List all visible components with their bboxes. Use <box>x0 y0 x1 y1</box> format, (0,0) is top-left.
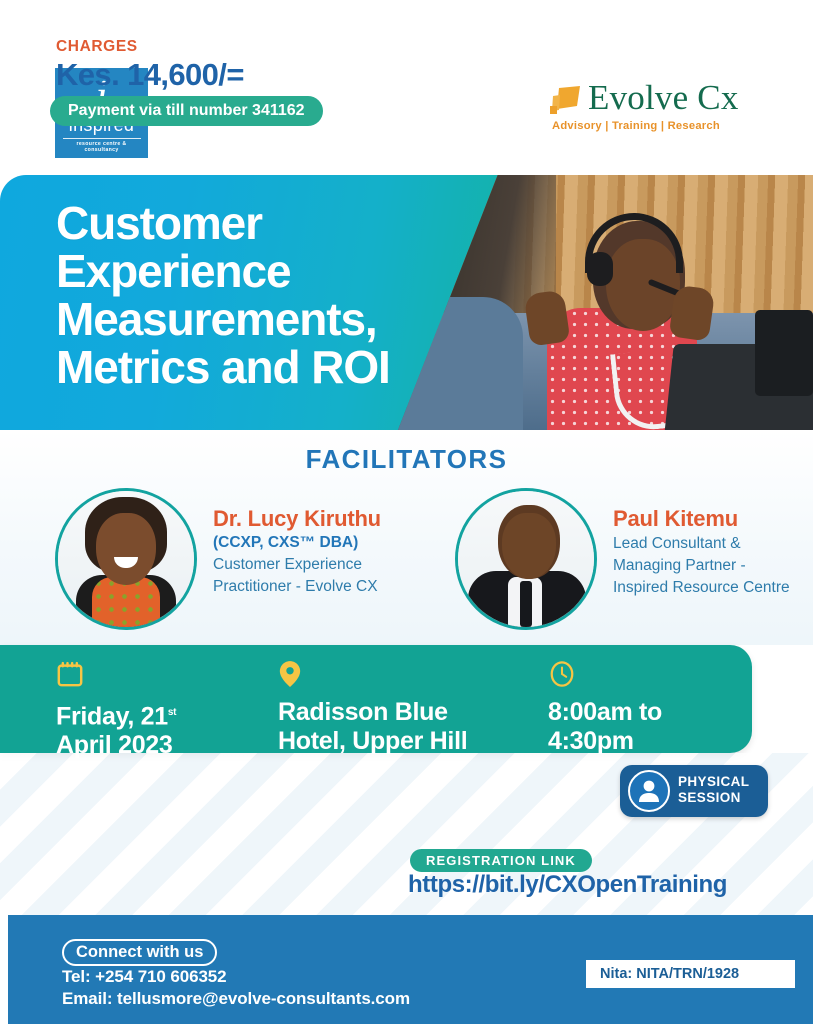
facilitator-2-info: Paul Kitemu Lead Consultant & Managing P… <box>613 506 813 598</box>
event-venue-line-1: Radisson Blue <box>278 698 467 727</box>
clock-icon <box>548 659 576 689</box>
facilitator-1-credentials: (CCXP, CXS™ DBA) <box>213 533 443 553</box>
footer-email[interactable]: Email: tellusmore@evolve-consultants.com <box>62 989 410 1009</box>
event-date-ordinal: st <box>168 707 176 718</box>
event-venue-column: Radisson Blue Hotel, Upper Hill <box>278 659 467 756</box>
facilitator-1-name: Dr. Lucy Kiruthu <box>213 506 443 532</box>
event-date-line-1: Friday, 21st <box>56 698 176 731</box>
facilitator-2-name: Paul Kitemu <box>613 506 813 532</box>
event-time-column: 8:00am to 4:30pm <box>548 659 662 756</box>
avatar-face <box>96 513 156 585</box>
event-time-line-1: 8:00am to <box>548 698 662 727</box>
facilitator-1-role-line-1: Customer Experience <box>213 555 443 575</box>
event-venue-line-2: Hotel, Upper Hill <box>278 727 467 756</box>
facilitator-1-info: Dr. Lucy Kiruthu (CCXP, CXS™ DBA) Custom… <box>213 506 443 597</box>
event-date-column: Friday, 21st April 2023 <box>56 659 176 760</box>
payment-note-pill: Payment via till number 341162 <box>50 96 323 126</box>
hero-title-line-1: Customer <box>56 199 390 247</box>
avatar-face <box>502 513 556 579</box>
facilitator-2-role-line-1: Lead Consultant & <box>613 534 813 554</box>
event-time-line-2: 4:30pm <box>548 727 662 756</box>
facilitator-1-role-line-2: Practitioner - Evolve CX <box>213 577 443 597</box>
hero-title-line-4: Metrics and ROI <box>56 343 390 391</box>
avatar-tie <box>520 581 532 627</box>
facilitator-2-avatar <box>455 488 597 630</box>
evolve-logo-name: Evolve Cx <box>588 78 739 118</box>
charges-label: CHARGES <box>56 38 138 56</box>
hero-banner: Customer Experience Measurements, Metric… <box>0 175 813 430</box>
nita-registration-badge: Nita: NITA/TRN/1928 <box>586 960 795 988</box>
event-date-day: Friday, 21 <box>56 702 168 730</box>
charges-amount: Kes. 14,600/= <box>56 57 244 93</box>
physical-session-badge: PHYSICAL SESSION <box>620 765 768 817</box>
facilitator-2-role-line-2: Managing Partner - <box>613 556 813 576</box>
hero-title: Customer Experience Measurements, Metric… <box>56 199 390 391</box>
registration-link-pill: REGISTRATION LINK <box>410 849 592 872</box>
evolve-cx-logo: Evolve Cx Advisory | Training | Research <box>550 80 765 142</box>
facilitator-1-avatar <box>55 488 197 630</box>
physical-session-line-2: SESSION <box>678 790 749 806</box>
hero-title-line-3: Measurements, <box>56 295 390 343</box>
calendar-icon <box>56 659 84 689</box>
registration-url[interactable]: https://bit.ly/CXOpenTraining <box>408 871 727 899</box>
facilitators-heading: FACILITATORS <box>0 444 813 475</box>
physical-session-line-1: PHYSICAL <box>678 774 749 790</box>
person-icon <box>628 770 670 812</box>
connect-with-us-label: Connect with us <box>62 939 217 966</box>
person-icon-glyph <box>630 772 668 810</box>
footer-telephone[interactable]: Tel: +254 710 606352 <box>62 967 227 987</box>
event-details-bar: Friday, 21st April 2023 Radisson Blue Ho… <box>0 645 752 753</box>
location-pin-icon <box>278 659 302 689</box>
inspired-logo-tagline: resource centre & consultancy <box>63 138 141 153</box>
event-flyer: i inspired resource centre & consultancy… <box>0 0 813 1024</box>
physical-session-label: PHYSICAL SESSION <box>678 774 749 806</box>
facilitator-2-role-line-3: Inspired Resource Centre <box>613 578 813 598</box>
hero-title-line-2: Experience <box>56 247 390 295</box>
evolve-logo-tagline: Advisory | Training | Research <box>552 120 720 132</box>
facilitators-section: FACILITATORS Dr. Lucy Kiruthu (CCXP, CXS… <box>0 430 813 645</box>
evolve-flag-icon <box>550 86 584 118</box>
